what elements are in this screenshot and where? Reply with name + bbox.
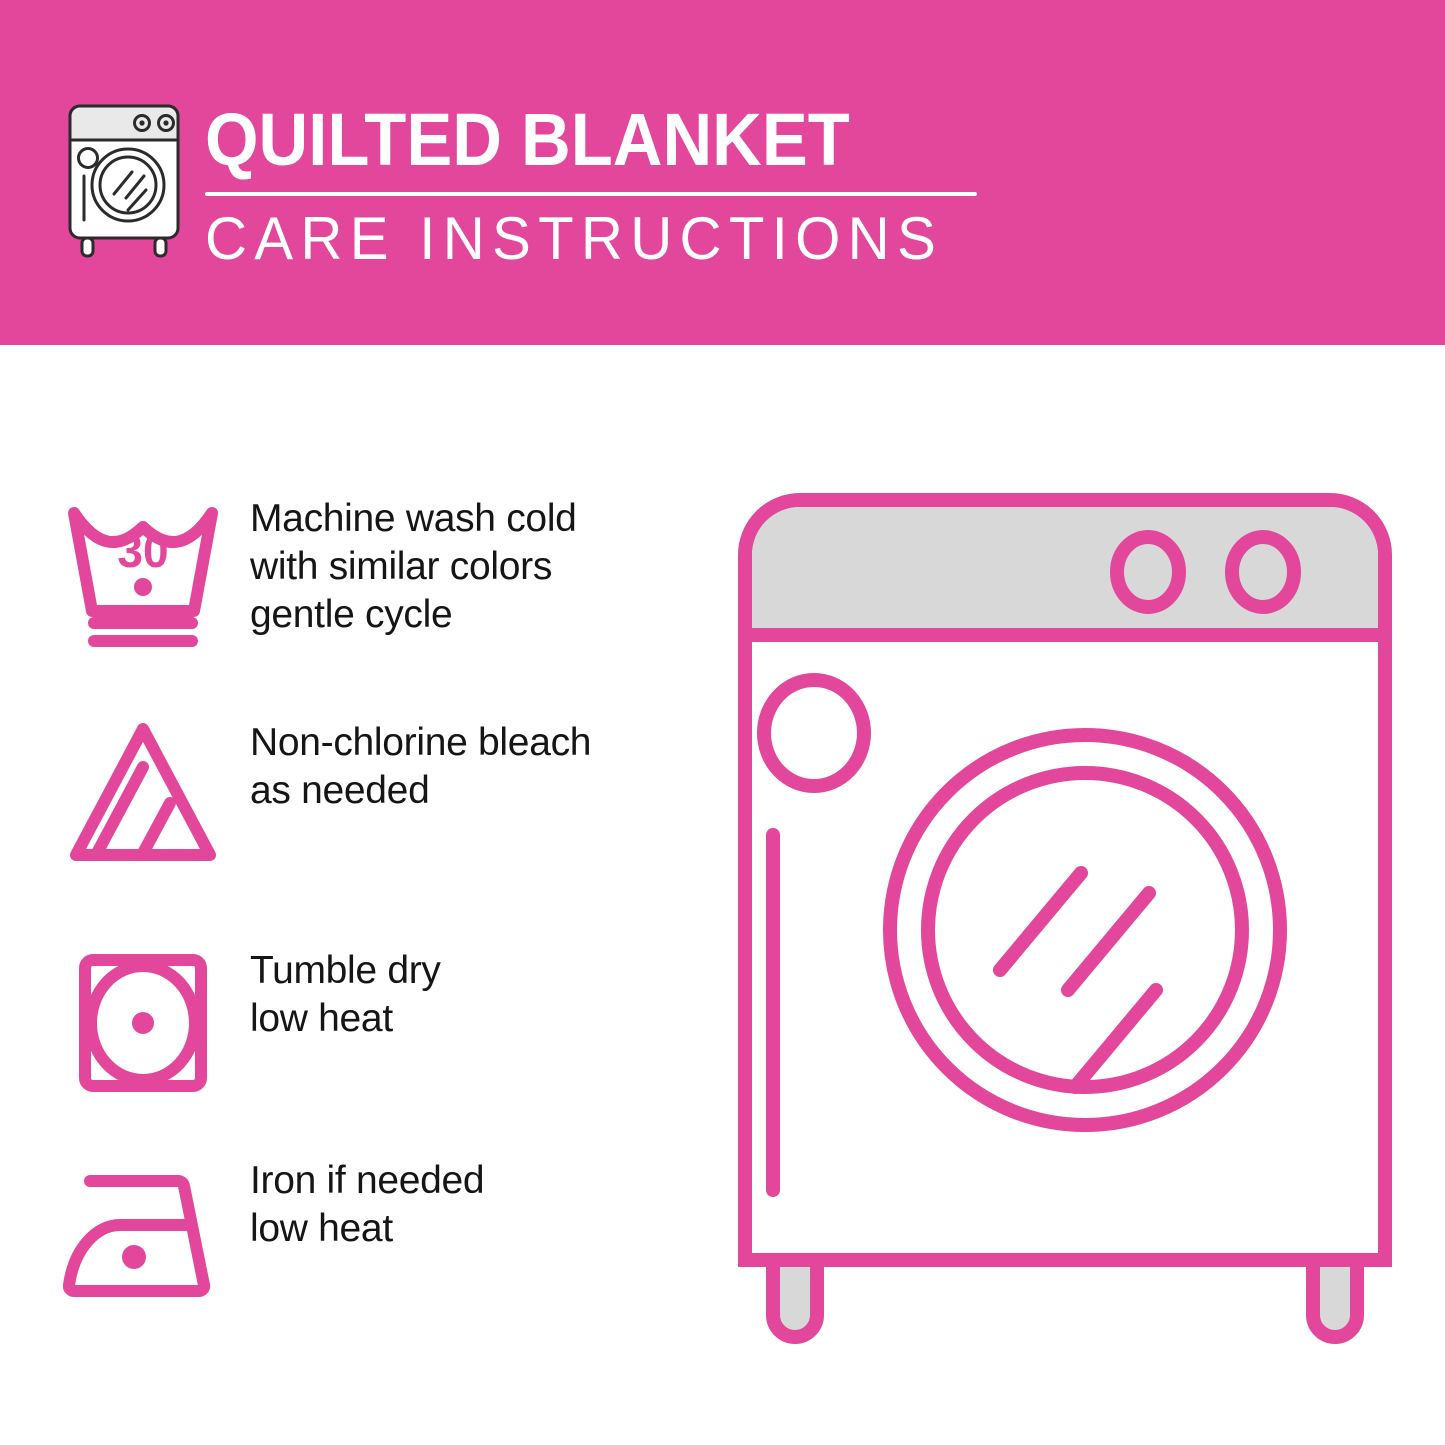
knob-right-icon <box>1232 537 1294 607</box>
leg-right <box>1313 1260 1357 1337</box>
bleach-triangle-icon <box>58 715 228 875</box>
care-instructions-page: QUILTED BLANKET CARE INSTRUCTIONS 30 Mac… <box>0 0 1445 1445</box>
title-divider <box>205 192 977 196</box>
washing-machine-logo-icon <box>58 100 190 260</box>
care-row-tumble-dry: Tumble dry low heat <box>0 943 700 1103</box>
washing-machine-illustration <box>715 470 1415 1370</box>
care-text-tumble-dry: Tumble dry low heat <box>250 943 441 1043</box>
knob-left-icon <box>1117 537 1179 607</box>
iron-icon <box>58 1153 228 1313</box>
care-text-bleach: Non-chlorine bleach as needed <box>250 715 591 815</box>
care-row-bleach: Non-chlorine bleach as needed <box>0 715 700 875</box>
header-banner: QUILTED BLANKET CARE INSTRUCTIONS <box>0 0 1445 345</box>
care-text-iron: Iron if needed low heat <box>250 1153 484 1253</box>
care-text-machine-wash: Machine wash cold with similar colors ge… <box>250 491 577 639</box>
page-title: QUILTED BLANKET <box>205 100 940 180</box>
care-row-machine-wash: 30 Machine wash cold with similar colors… <box>0 491 700 651</box>
leg-left <box>773 1260 817 1337</box>
header-text-block: QUILTED BLANKET CARE INSTRUCTIONS <box>205 100 995 272</box>
wash-temperature-label: 30 <box>117 525 168 577</box>
page-subtitle: CARE INSTRUCTIONS <box>205 206 971 272</box>
care-row-iron: Iron if needed low heat <box>0 1153 700 1313</box>
wash-tub-icon: 30 <box>58 491 228 651</box>
tumble-dry-icon <box>58 943 228 1103</box>
care-instruction-list: 30 Machine wash cold with similar colors… <box>0 345 700 1445</box>
